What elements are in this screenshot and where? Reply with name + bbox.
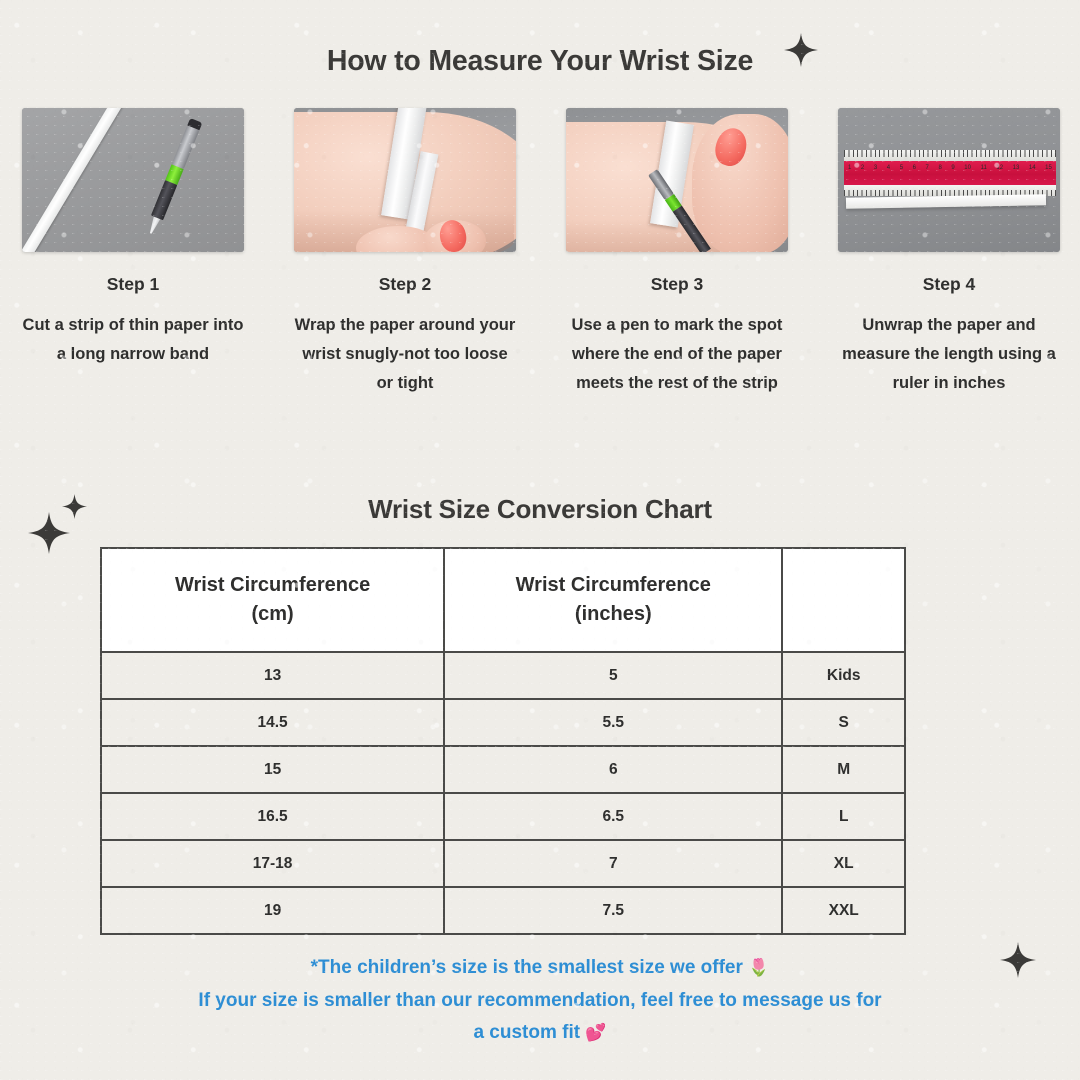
column-header-inches-line1: Wrist Circumference xyxy=(516,574,711,596)
ruler-number: 13 xyxy=(1013,165,1020,171)
ruler-number: 4 xyxy=(887,165,890,171)
cell-size: Kids xyxy=(782,652,905,699)
ruler-number: 12 xyxy=(996,165,1003,171)
ruler-number: 11 xyxy=(981,165,987,171)
photo-paper-strip-and-pen xyxy=(22,108,244,252)
table-row: 15 6 M xyxy=(101,746,905,793)
column-header-cm-line1: Wrist Circumference xyxy=(175,574,370,596)
cell-inches: 7 xyxy=(444,840,782,887)
step-2-description: Wrap the paper around your wrist snugly-… xyxy=(294,311,516,398)
cell-inches: 6.5 xyxy=(444,793,782,840)
two-hearts-icon: 💕 xyxy=(585,1023,606,1042)
cell-inches: 5 xyxy=(444,652,782,699)
ruler-shape: 123456789101112131415 xyxy=(844,150,1056,196)
footnote-line-1: *The children’s size is the smallest siz… xyxy=(50,952,1030,985)
ruler-numbers: 123456789101112131415 xyxy=(848,162,1052,173)
ruler-number: 2 xyxy=(861,165,864,171)
photo-marking-paper-with-pen xyxy=(566,108,788,252)
ruler-number: 3 xyxy=(874,165,877,171)
steps-row: Step 1 Cut a strip of thin paper into a … xyxy=(22,108,1058,398)
table-body: 13 5 Kids 14.5 5.5 S 15 6 M 16.5 6.5 L 1… xyxy=(101,652,905,934)
ruler-number: 15 xyxy=(1045,165,1052,171)
ruler-number: 8 xyxy=(938,165,941,171)
page-title: How to Measure Your Wrist Size xyxy=(0,45,1080,78)
tulip-icon: 🌷 xyxy=(748,958,769,977)
step-1-description: Cut a strip of thin paper into a long na… xyxy=(22,311,244,369)
cell-cm: 17-18 xyxy=(101,840,444,887)
step-4-label: Step 4 xyxy=(838,274,1060,295)
cell-size: XXL xyxy=(782,887,905,934)
table-row: 13 5 Kids xyxy=(101,652,905,699)
photo-background xyxy=(22,108,244,252)
step-4: 123456789101112131415 Step 4 Unwrap the … xyxy=(838,108,1060,398)
cell-cm: 13 xyxy=(101,652,444,699)
ruler-number: 6 xyxy=(913,165,916,171)
footnote-line-3: a custom fit 💕 xyxy=(50,1017,1030,1050)
cell-size: L xyxy=(782,793,905,840)
cell-size: XL xyxy=(782,840,905,887)
column-header-inches: Wrist Circumference (inches) xyxy=(444,548,782,652)
cell-cm: 19 xyxy=(101,887,444,934)
wrist-size-conversion-table: Wrist Circumference (cm) Wrist Circumfer… xyxy=(100,547,906,935)
column-header-inches-line2: (inches) xyxy=(575,603,652,625)
ruler-number: 10 xyxy=(964,165,971,171)
step-1-label: Step 1 xyxy=(22,274,244,295)
sparkle-star-chart-large xyxy=(28,512,70,554)
column-header-cm: Wrist Circumference (cm) xyxy=(101,548,444,652)
ruler-ticks-top xyxy=(844,150,1056,161)
cell-size: S xyxy=(782,699,905,746)
step-3: Step 3 Use a pen to mark the spot where … xyxy=(566,108,788,398)
cell-inches: 5.5 xyxy=(444,699,782,746)
cell-inches: 7.5 xyxy=(444,887,782,934)
photo-ruler-measuring-paper: 123456789101112131415 xyxy=(838,108,1060,252)
photo-paper-wrapped-around-wrist xyxy=(294,108,516,252)
cell-cm: 15 xyxy=(101,746,444,793)
cell-inches: 6 xyxy=(444,746,782,793)
column-header-size xyxy=(782,548,905,652)
step-4-description: Unwrap the paper and measure the length … xyxy=(838,311,1060,398)
table-row: 14.5 5.5 S xyxy=(101,699,905,746)
step-3-label: Step 3 xyxy=(566,274,788,295)
table-row: 19 7.5 XXL xyxy=(101,887,905,934)
cell-cm: 14.5 xyxy=(101,699,444,746)
cell-cm: 16.5 xyxy=(101,793,444,840)
table-row: 16.5 6.5 L xyxy=(101,793,905,840)
ruler-number: 9 xyxy=(951,165,954,171)
step-1: Step 1 Cut a strip of thin paper into a … xyxy=(22,108,244,398)
footnote-line-1-text: *The children’s size is the smallest siz… xyxy=(311,957,743,978)
column-header-cm-line2: (cm) xyxy=(251,603,293,625)
cell-size: M xyxy=(782,746,905,793)
sparkle-star-title xyxy=(784,33,818,67)
table-header-row: Wrist Circumference (cm) Wrist Circumfer… xyxy=(101,548,905,652)
ruler-number: 14 xyxy=(1029,165,1036,171)
footnote-line-3-text: a custom fit xyxy=(473,1022,580,1043)
step-3-description: Use a pen to mark the spot where the end… xyxy=(566,311,788,398)
chart-title: Wrist Size Conversion Chart xyxy=(0,494,1080,525)
step-2: Step 2 Wrap the paper around your wrist … xyxy=(294,108,516,398)
ruler-number: 7 xyxy=(926,165,929,171)
footnote-line-2: If your size is smaller than our recomme… xyxy=(50,985,1030,1018)
ruler-number: 5 xyxy=(900,165,903,171)
step-2-label: Step 2 xyxy=(294,274,516,295)
table-row: 17-18 7 XL xyxy=(101,840,905,887)
footnote: *The children’s size is the smallest siz… xyxy=(50,952,1030,1050)
ruler-number: 1 xyxy=(848,165,851,171)
